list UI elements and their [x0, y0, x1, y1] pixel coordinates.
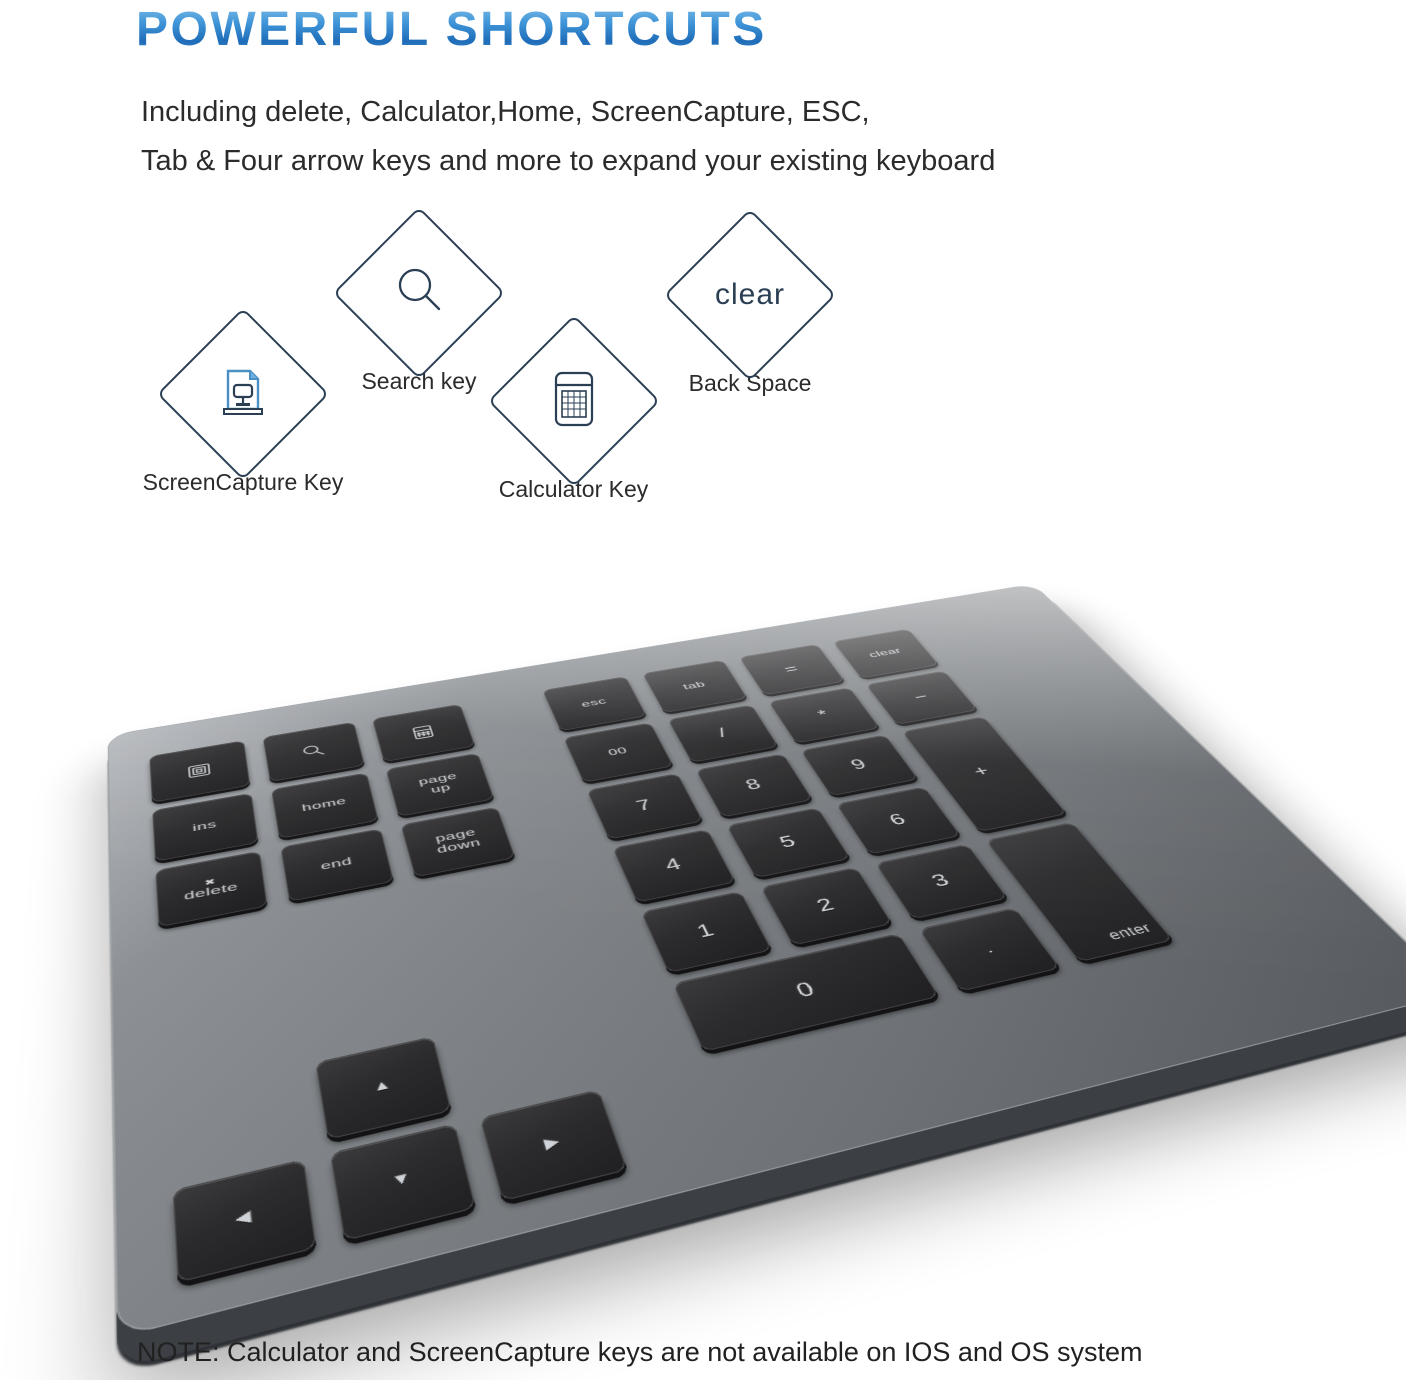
- diamond-frame: clear: [664, 209, 837, 382]
- feature-back-space: clear Back Space: [662, 234, 838, 397]
- keyboard-product-photo: ins home page up ✖ delete end page down …: [0, 395, 1406, 1315]
- arrow-up-icon: ▲: [372, 1077, 394, 1095]
- numeric-keypad: ins home page up ✖ delete end page down …: [108, 584, 1406, 1338]
- key-label: tab: [681, 680, 707, 691]
- key-label: =: [781, 662, 801, 675]
- magnifier-icon: [297, 741, 329, 761]
- screen-capture-icon: [184, 760, 215, 781]
- calculator-icon: [408, 723, 438, 742]
- subtitle-line-2: Tab & Four arrow keys and more to expand…: [141, 137, 995, 186]
- footer-note: NOTE: Calculator and ScreenCapture keys …: [137, 1337, 1143, 1368]
- subtitle-line-1: Including delete, Calculator,Home, Scree…: [141, 88, 995, 137]
- magnifier-icon: [389, 261, 449, 326]
- key-label: esc: [580, 697, 608, 709]
- keyboard-chassis: [108, 584, 1406, 1338]
- key-label: *: [815, 708, 832, 722]
- clear-text: clear: [715, 278, 785, 312]
- page-title: POWERFUL SHORTCUTS: [136, 2, 767, 57]
- page-subtitle: Including delete, Calculator,Home, Scree…: [141, 88, 995, 186]
- key-label: −: [910, 690, 932, 704]
